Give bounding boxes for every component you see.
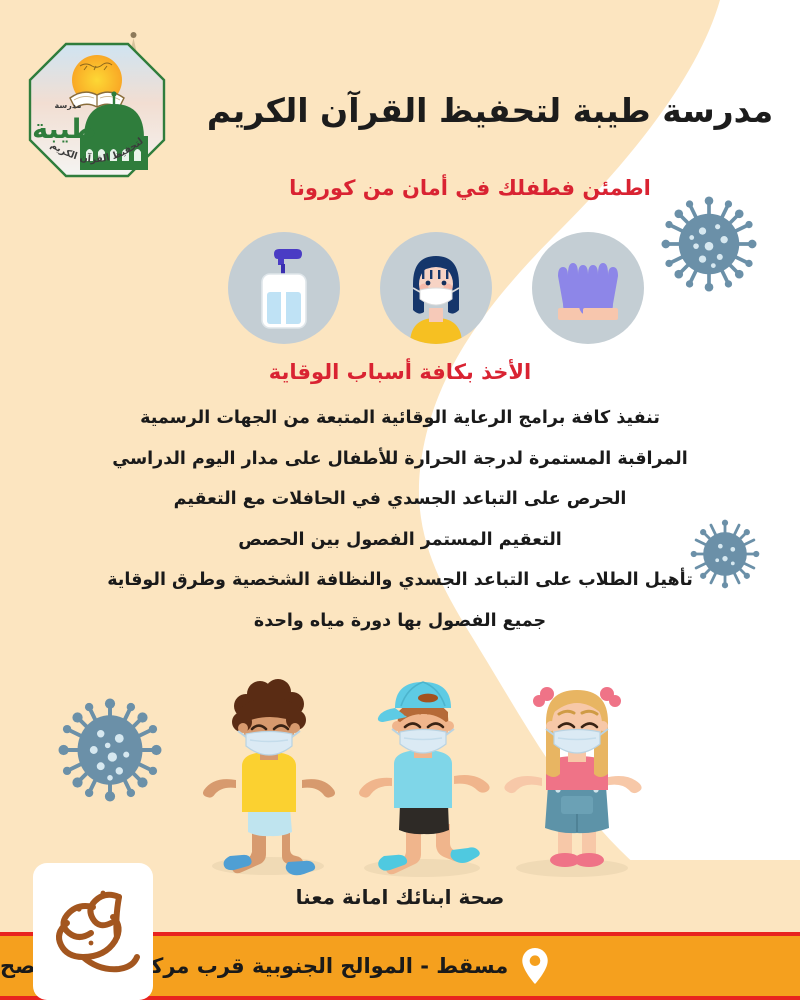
children-graphic	[190, 668, 660, 880]
poster-root: مدرسة طيبة لتحفيظ القرآن الكريم مدرسة طي…	[0, 0, 800, 1000]
sponsor-logo-card	[33, 863, 153, 1000]
measure-item: تأهيل الطلاب على التباعد الجسدي والنظافة…	[40, 572, 760, 590]
virus-icon	[655, 190, 763, 298]
measure-item: الحرص على التباعد الجسدي في الحافلات مع …	[40, 491, 760, 509]
child-boy-cap	[359, 682, 490, 874]
logo-madrasa-text: مدرسة	[55, 101, 82, 110]
section-heading: الأخذ بكافة أسباب الوقاية	[60, 360, 740, 384]
sponsor-calligraphy	[33, 863, 153, 1000]
prevention-icon-row	[228, 228, 644, 348]
gloves-icon	[532, 232, 644, 344]
measures-list: تنفيذ كافة برامج الرعاية الوقائية المتبع…	[40, 410, 760, 653]
measure-item: جميع الفصول بها دورة مياه واحدة	[40, 613, 760, 631]
school-logo: مدرسة طيبة لتحفيظ القرآن الكريم	[22, 28, 172, 193]
poster-title: مدرسة طيبة لتحفيظ القرآن الكريم	[190, 90, 790, 131]
poster-tagline: صحة ابنائك امانة معنا	[120, 885, 680, 909]
measure-item: التعقيم المستمر الفصول بين الحصص	[40, 532, 760, 550]
map-pin-icon	[522, 948, 548, 984]
school-logo-graphic: مدرسة طيبة لتحفيظ القرآن الكريم	[22, 28, 172, 193]
child-girl-curly	[203, 679, 335, 875]
hand-sanitizer-graphic	[228, 232, 340, 344]
hand-sanitizer-icon	[228, 232, 340, 344]
virus-icon	[52, 692, 168, 808]
virus-icon	[686, 515, 764, 593]
face-mask-person-icon	[380, 232, 492, 344]
children-illustration	[190, 668, 660, 880]
child-girl-blonde	[504, 687, 641, 867]
measure-item: المراقبة المستمرة لدرجة الحرارة للأطفال …	[40, 451, 760, 469]
logo-taiba-text: طيبة	[32, 114, 96, 145]
face-mask-person-graphic	[380, 232, 492, 344]
gloves-icon-graphic	[532, 232, 644, 344]
measure-item: تنفيذ كافة برامج الرعاية الوقائية المتبع…	[40, 410, 760, 428]
